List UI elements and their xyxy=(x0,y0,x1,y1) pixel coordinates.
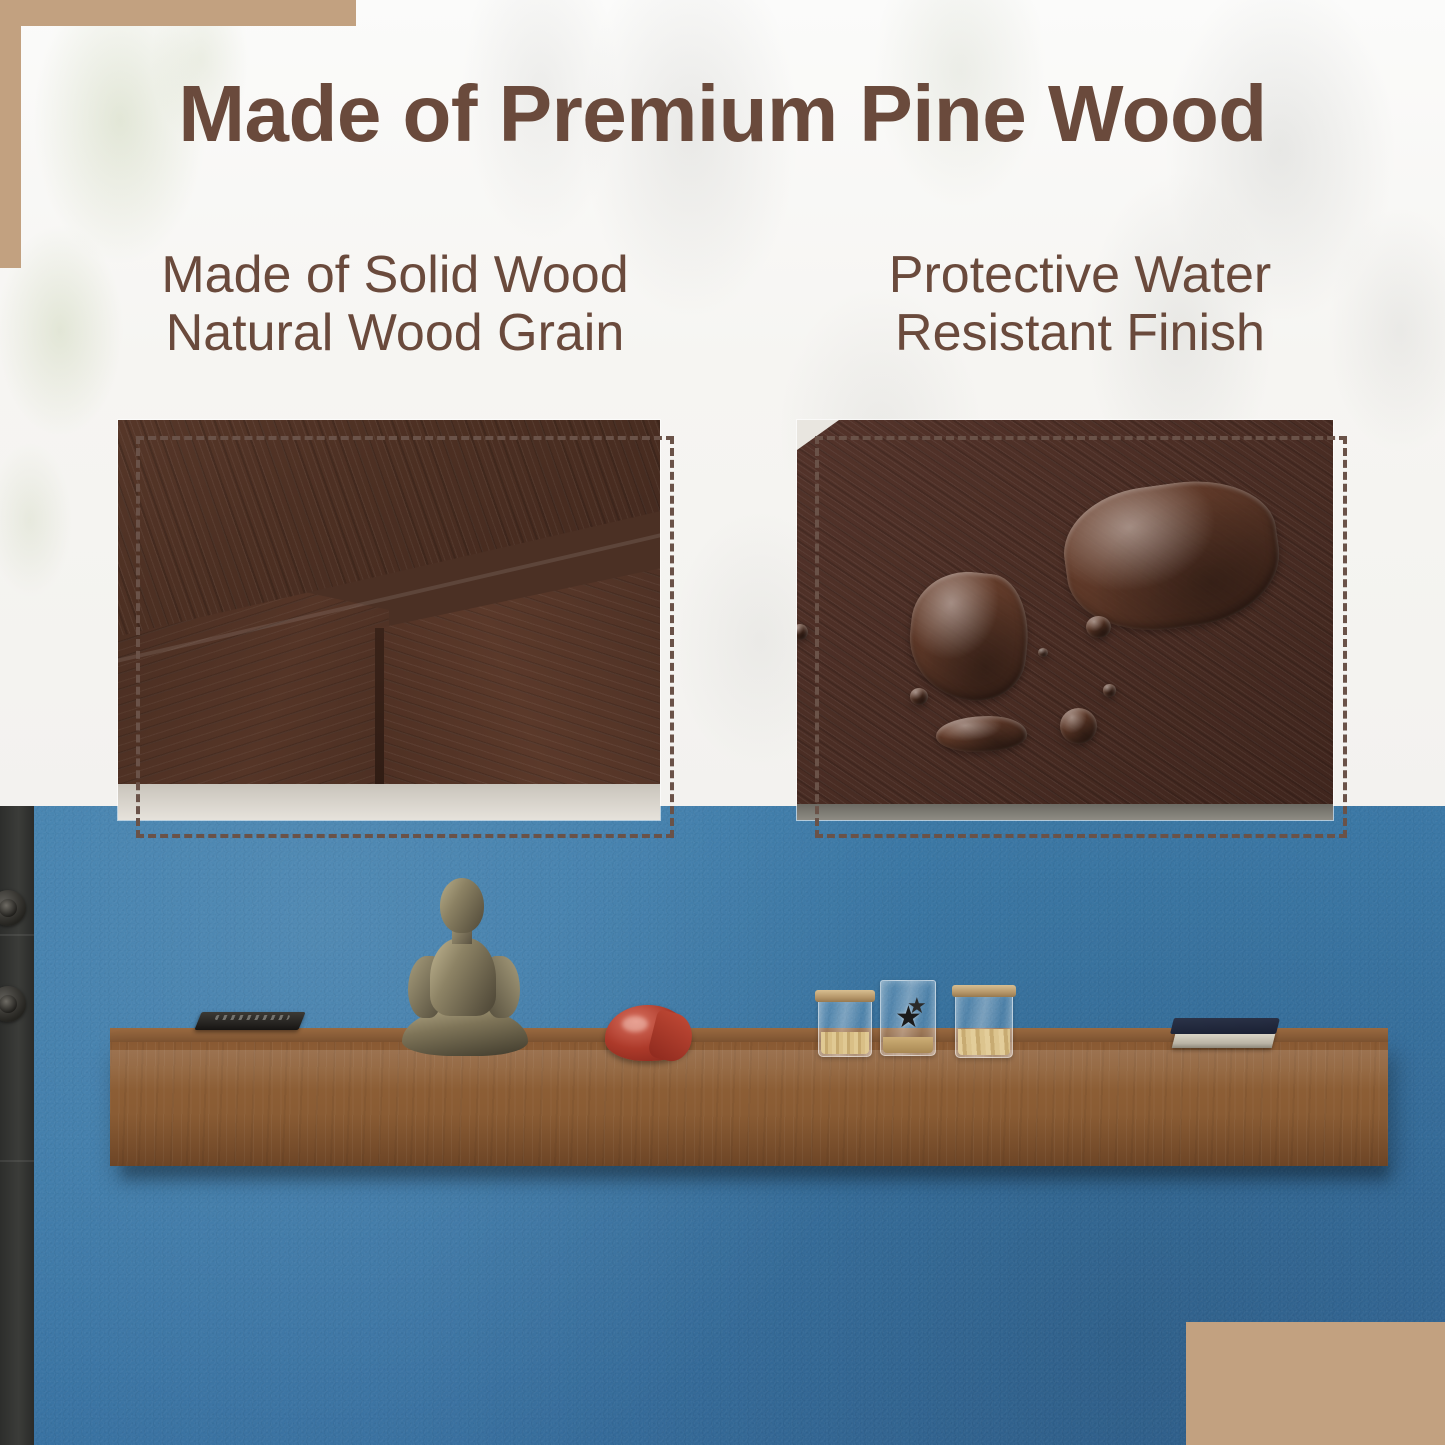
jar-contents-sand xyxy=(958,1029,1010,1055)
photo-floor xyxy=(118,784,660,820)
door-seam xyxy=(0,934,34,936)
corner-accent-top-left-bar xyxy=(0,0,356,26)
red-ornament-highlight xyxy=(622,1016,648,1032)
feature-heading-line2: Natural Wood Grain xyxy=(95,304,695,362)
jar-contents-candles xyxy=(821,1032,869,1054)
shelf-highlight xyxy=(110,1050,1388,1090)
glass-jar-candles xyxy=(818,997,872,1057)
wood-face-right xyxy=(378,564,660,820)
feature-heading-solid-wood: Made of Solid Wood Natural Wood Grain xyxy=(95,246,695,362)
wood-corner-illustration xyxy=(118,420,660,820)
remote-control xyxy=(194,1012,305,1030)
jar-lid xyxy=(952,985,1016,997)
book-cover xyxy=(1170,1018,1280,1034)
feature-photo-solid-wood xyxy=(118,420,660,820)
glass-jar-stars: ★ ★ xyxy=(880,980,936,1056)
floating-wood-shelf xyxy=(110,1042,1388,1166)
page-title: Made of Premium Pine Wood xyxy=(0,68,1445,160)
water-droplet-streak xyxy=(936,716,1027,752)
water-droplet-large xyxy=(1056,470,1288,642)
feature-heading-line1: Protective Water xyxy=(800,246,1360,304)
water-droplet-photo xyxy=(797,420,1333,820)
photo-corner-cut xyxy=(797,420,839,450)
corner-accent-bottom-right xyxy=(1186,1322,1445,1445)
water-droplet-small xyxy=(1038,648,1048,657)
feature-heading-water-resistant: Protective Water Resistant Finish xyxy=(800,246,1360,362)
wood-corner-photo xyxy=(118,420,660,820)
shelf-drop-shadow xyxy=(122,1164,1388,1186)
water-droplet-medium xyxy=(1086,616,1110,638)
water-droplet-blob xyxy=(903,566,1034,706)
water-droplet-small xyxy=(910,688,929,705)
feature-heading-line1: Made of Solid Wood xyxy=(95,246,695,304)
photo-base-strip xyxy=(797,804,1333,820)
buddha-torso xyxy=(430,938,496,1016)
jar-contents-base xyxy=(883,1037,933,1053)
door-seam xyxy=(0,1160,34,1162)
finished-wood-surface xyxy=(797,420,1333,820)
star-icon: ★ xyxy=(907,995,927,1017)
feature-photo-water-resistant xyxy=(797,420,1333,820)
water-droplet-medium xyxy=(1060,708,1098,744)
water-droplet-small xyxy=(1103,684,1117,697)
buddha-head xyxy=(440,878,484,933)
jar-lid xyxy=(815,990,875,1002)
glass-jar-sand xyxy=(955,992,1013,1058)
promo-graphic: Made of Premium Pine Wood Made of Solid … xyxy=(0,0,1445,1445)
buddha-figurine xyxy=(398,878,532,1056)
water-droplet-edge xyxy=(797,624,808,640)
hardcover-book xyxy=(1172,1018,1278,1052)
feature-heading-line2: Resistant Finish xyxy=(800,304,1360,362)
